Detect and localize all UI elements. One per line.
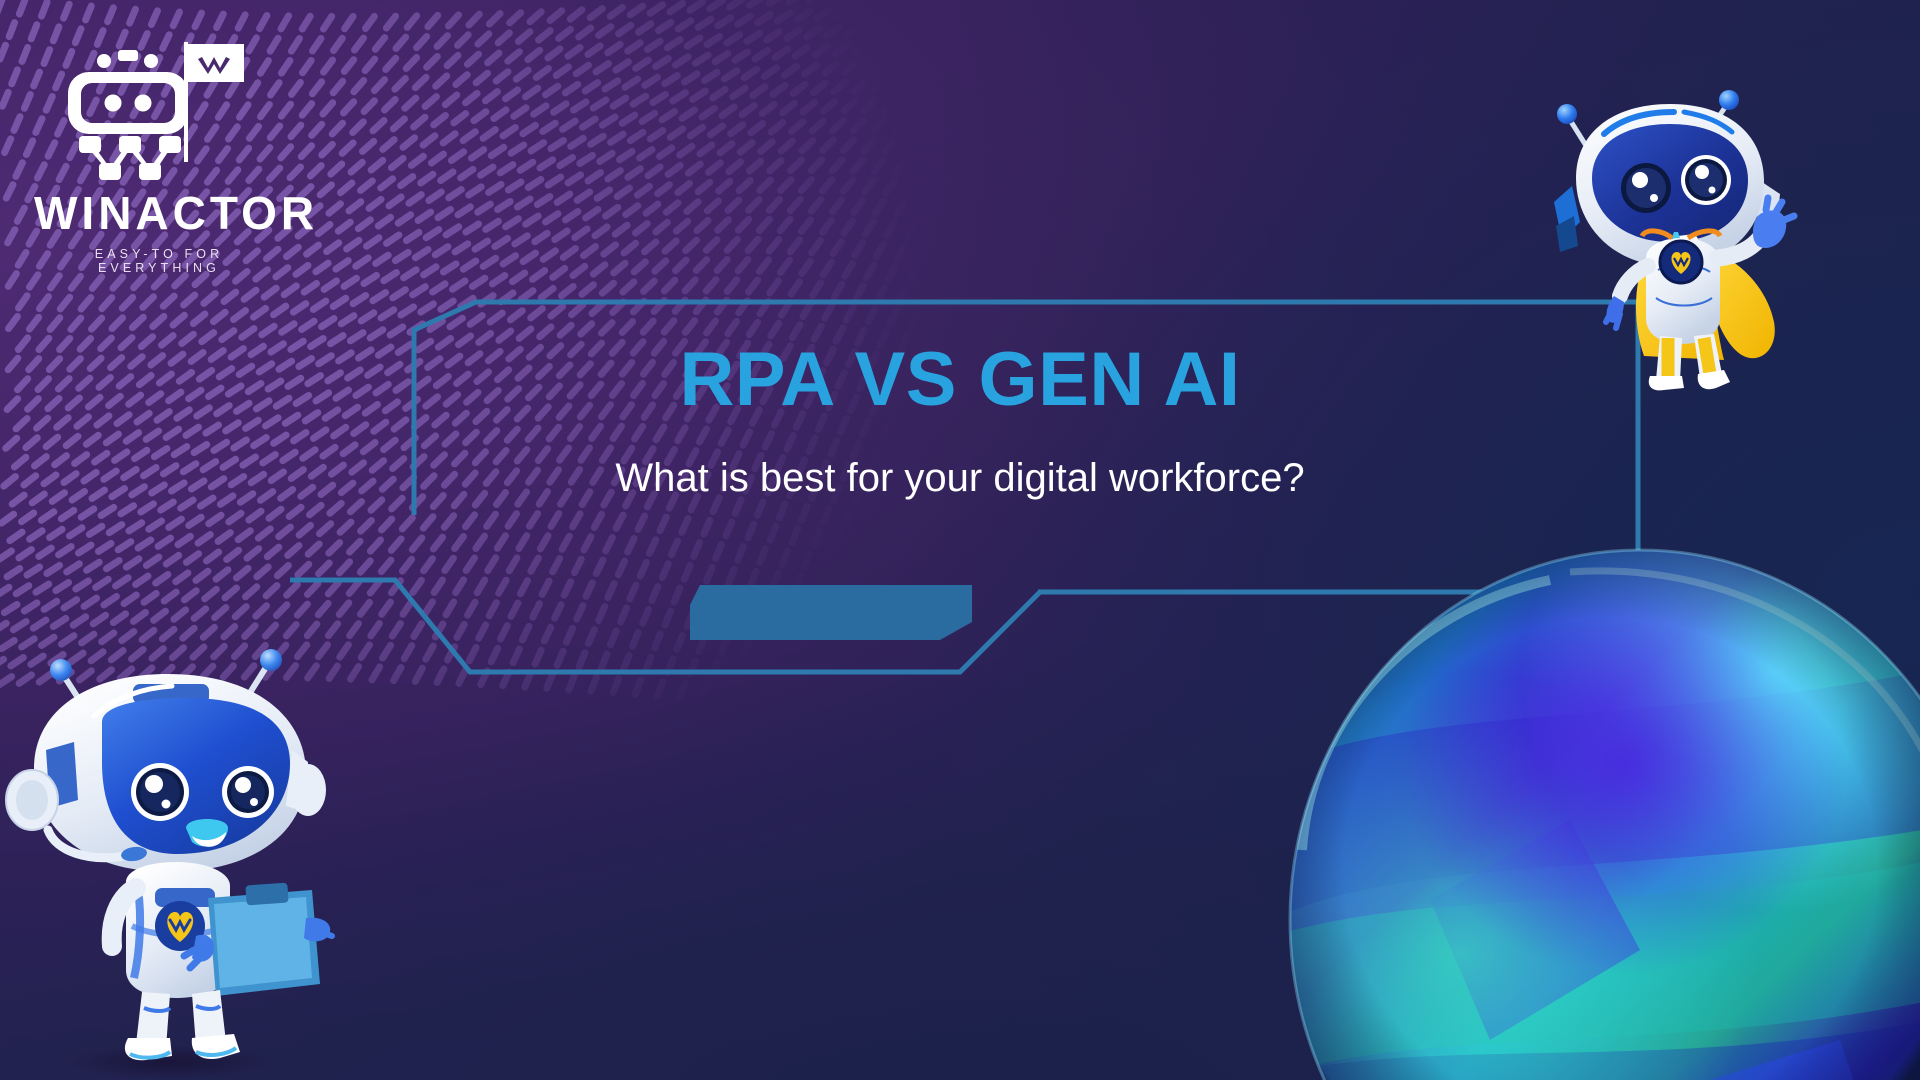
antenna-ball-right (1719, 90, 1739, 110)
logo-wordmark: WINACTOR (34, 190, 284, 236)
page-subtitle: What is best for your digital workforce? (415, 454, 1505, 502)
antenna-ball-left (1557, 104, 1577, 124)
hero-banner: WINACTOR EASY-TO FOR EVERYTHING RPA VS G… (0, 0, 1920, 1080)
iridescent-glass-sphere (1240, 520, 1920, 1080)
eye-right (1681, 155, 1731, 205)
eye-right (222, 766, 274, 818)
page-title: RPA VS GEN AI (415, 340, 1505, 420)
antenna-ball-left (50, 659, 72, 681)
hand-right (304, 918, 330, 942)
superhero-robot-mascot (1528, 60, 1798, 400)
eye-left (1621, 163, 1671, 213)
hero-text-block: RPA VS GEN AI What is best for your digi… (415, 340, 1505, 502)
logo-tagline: EASY-TO FOR EVERYTHING (34, 247, 284, 275)
eye-left (131, 763, 189, 821)
clipboard-robot-mascot (0, 640, 350, 1080)
clipboard (208, 883, 320, 996)
antenna-ball-right (260, 649, 282, 671)
winactor-logo[interactable]: WINACTOR EASY-TO FOR EVERYTHING (34, 36, 304, 275)
robot-flag-logo-icon (66, 36, 266, 186)
headphone-right (290, 764, 326, 816)
